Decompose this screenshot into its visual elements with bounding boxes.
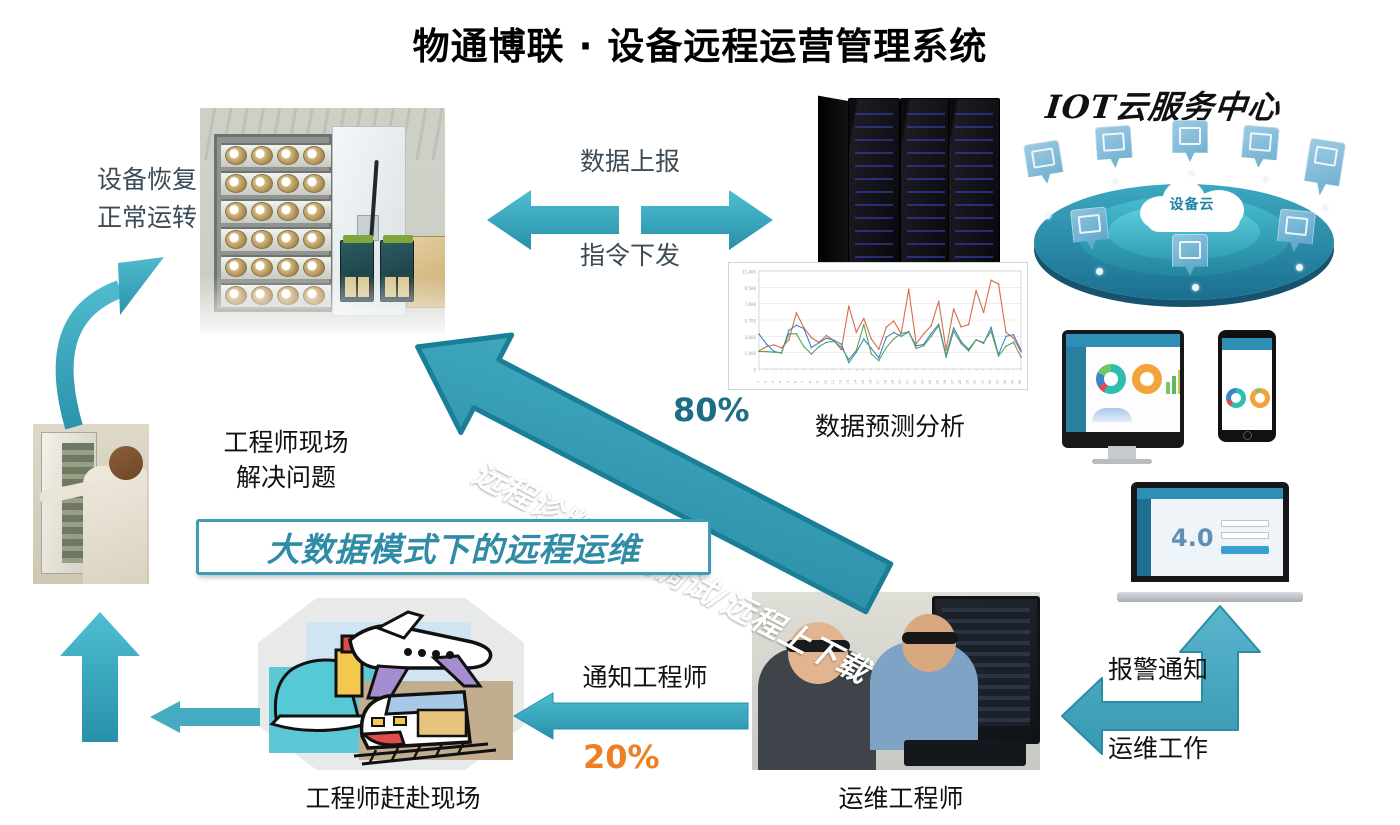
arrow-transport-to-site — [150, 700, 260, 734]
laptop-login-mockup: 4.0 — [1117, 482, 1303, 602]
svg-text:9,500: 9,500 — [745, 286, 757, 291]
label-equipment-recovery-line1: 设备恢复 — [62, 160, 232, 196]
label-command-dispatch: 指令下发 — [500, 236, 760, 272]
svg-text:29: 29 — [966, 380, 970, 384]
percent-remote: 80% — [673, 391, 750, 429]
page-title: 物通博联 · 设备远程运营管理系统 — [0, 16, 1400, 70]
svg-text:31: 31 — [981, 380, 985, 384]
svg-text:34: 34 — [1003, 380, 1007, 384]
label-engineer-onsite-line1: 工程师现场 — [186, 423, 386, 459]
engineer-onsite-photo — [33, 424, 149, 584]
industrial-equipment-photo — [200, 108, 445, 333]
remote-ops-banner-text: 大数据模式下的远程运维 — [267, 523, 641, 571]
label-alarm-notification: 报警通知 — [1108, 650, 1208, 686]
iot-cloud-illustration: 设备云 — [1000, 118, 1364, 318]
svg-text:32: 32 — [988, 380, 992, 384]
mobile-card-icon — [1302, 138, 1346, 199]
mobile-dashboard-mockup — [1218, 330, 1276, 442]
laptop-headline: 4.0 — [1171, 524, 1214, 552]
svg-text:36: 36 — [1018, 380, 1022, 384]
slide-canvas: 物通博联 · 设备远程运营管理系统 — [0, 0, 1400, 825]
ops-engineers-photo — [752, 592, 1040, 770]
label-engineer-onsite-line2: 解决问题 — [186, 458, 386, 494]
user-card-icon — [1172, 120, 1208, 162]
chart-card-icon — [1023, 139, 1065, 186]
desktop-dashboard-mockup — [1062, 330, 1184, 448]
svg-text:35: 35 — [1011, 380, 1015, 384]
svg-text:28: 28 — [958, 380, 962, 384]
label-ops-work: 运维工作 — [1108, 729, 1208, 765]
calendar-card-icon — [1095, 125, 1134, 169]
label-equipment-recovery-line2: 正常运转 — [62, 198, 232, 234]
arrow-engineer-return — [56, 612, 152, 742]
transport-clipart — [258, 598, 524, 770]
label-ops-engineer: 运维工程师 — [816, 779, 986, 815]
label-data-prediction: 数据预测分析 — [790, 407, 990, 443]
label-data-upload: 数据上报 — [500, 142, 760, 178]
message-card-icon — [1240, 125, 1280, 170]
percent-onsite: 20% — [583, 738, 660, 776]
cloud-center-label: 设备云 — [1140, 194, 1244, 214]
svg-text:33: 33 — [996, 380, 1000, 384]
arrow-notify-engineer — [513, 692, 750, 740]
remote-ops-banner: 大数据模式下的远程运维 — [196, 519, 711, 575]
arrow-device-recovery — [46, 215, 226, 445]
label-notify-engineer: 通知工程师 — [545, 658, 745, 694]
svg-text:30: 30 — [973, 380, 977, 384]
svg-text:7,600: 7,600 — [745, 302, 757, 307]
label-engineer-dispatch: 工程师赶赴现场 — [278, 779, 508, 815]
